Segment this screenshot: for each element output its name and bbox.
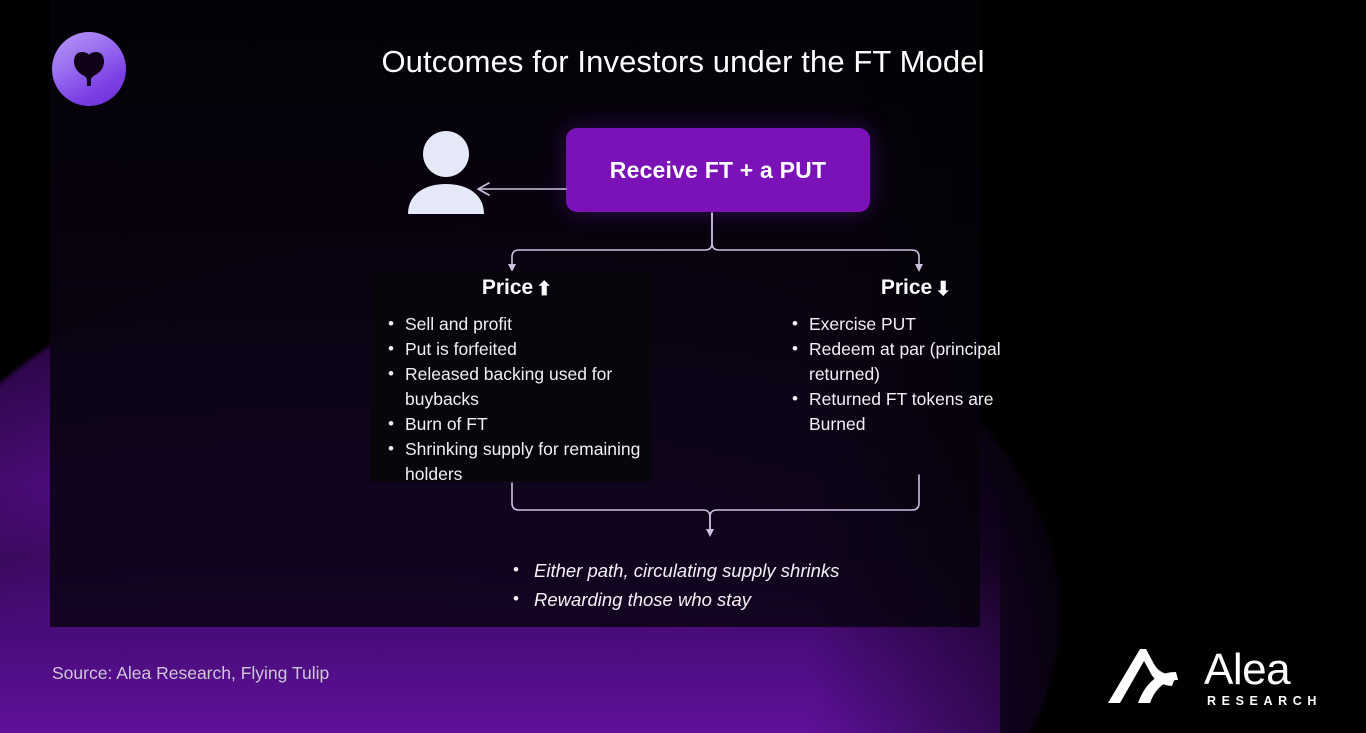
slide-root: Outcomes for Investors under the FT Mode… bbox=[0, 0, 1366, 733]
brand-name: Alea bbox=[1204, 649, 1322, 691]
branch-price-down: Price ⬇ Exercise PUT Redeem at par (prin… bbox=[790, 276, 1042, 437]
branch-price-down-list: Exercise PUT Redeem at par (principal re… bbox=[790, 312, 1042, 437]
conclusion-list: Either path, circulating supply shrinks … bbox=[508, 556, 1028, 614]
primary-node-receive-ft-put[interactable]: Receive FT + a PUT bbox=[566, 128, 870, 212]
list-item: Sell and profit bbox=[386, 312, 648, 337]
list-item: Released backing used for buybacks bbox=[386, 362, 648, 412]
page-title: Outcomes for Investors under the FT Mode… bbox=[0, 44, 1366, 80]
branch-price-up: Price ⬆ Sell and profit Put is forfeited… bbox=[386, 276, 648, 487]
arrow-up-icon: ⬆ bbox=[536, 280, 552, 299]
connector-lines bbox=[0, 0, 1366, 733]
list-item: Returned FT tokens are Burned bbox=[790, 387, 1042, 437]
branch-price-up-list: Sell and profit Put is forfeited Release… bbox=[386, 312, 648, 487]
arrow-down-icon: ⬇ bbox=[935, 280, 951, 299]
list-item: Put is forfeited bbox=[386, 337, 648, 362]
brand-logo: Alea RESEARCH bbox=[1098, 645, 1322, 712]
list-item: Redeem at par (principal returned) bbox=[790, 337, 1042, 387]
branch-price-down-heading: Price ⬇ bbox=[790, 276, 1042, 300]
list-item: Shrinking supply for remaining holders bbox=[386, 437, 648, 487]
brand-subtitle: RESEARCH bbox=[1207, 694, 1322, 708]
list-item: Burn of FT bbox=[386, 412, 648, 437]
brand-text: Alea RESEARCH bbox=[1204, 649, 1322, 709]
list-item: Rewarding those who stay bbox=[508, 585, 1028, 614]
branch-price-up-heading-label: Price bbox=[482, 276, 533, 300]
alea-a-mark-icon bbox=[1098, 645, 1190, 712]
conclusion-block: Either path, circulating supply shrinks … bbox=[508, 556, 1028, 614]
branch-price-up-heading: Price ⬆ bbox=[386, 276, 648, 300]
list-item: Either path, circulating supply shrinks bbox=[508, 556, 1028, 585]
primary-node-label: Receive FT + a PUT bbox=[610, 157, 826, 184]
person-icon bbox=[403, 128, 489, 214]
branch-price-down-heading-label: Price bbox=[881, 276, 932, 300]
list-item: Exercise PUT bbox=[790, 312, 1042, 337]
source-note: Source: Alea Research, Flying Tulip bbox=[52, 663, 329, 684]
